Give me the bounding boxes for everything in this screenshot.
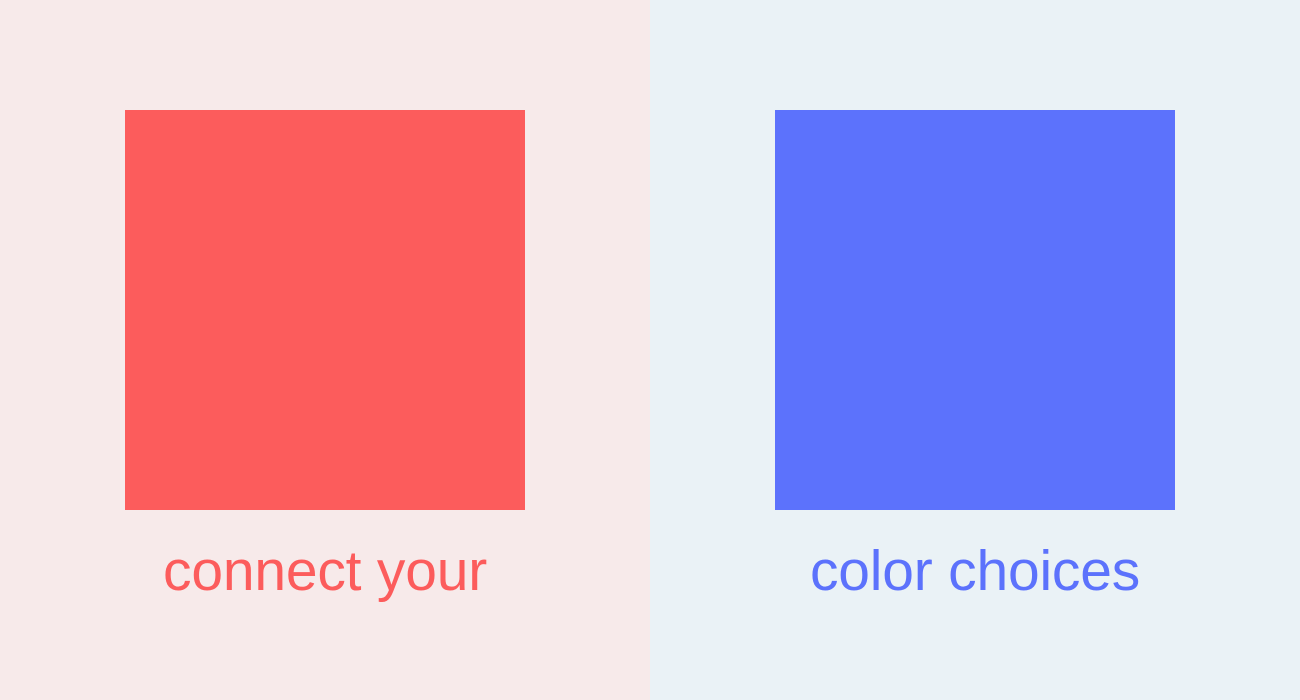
swatch-board: connect your color choices	[0, 0, 1300, 700]
swatch-panel-left: connect your	[0, 0, 650, 700]
swatch-label-periwinkle: color choices	[650, 543, 1300, 600]
swatch-label-coral: connect your	[0, 543, 650, 600]
color-swatch-coral[interactable]	[125, 110, 525, 510]
swatch-panel-right: color choices	[650, 0, 1300, 700]
color-swatch-periwinkle[interactable]	[775, 110, 1175, 510]
